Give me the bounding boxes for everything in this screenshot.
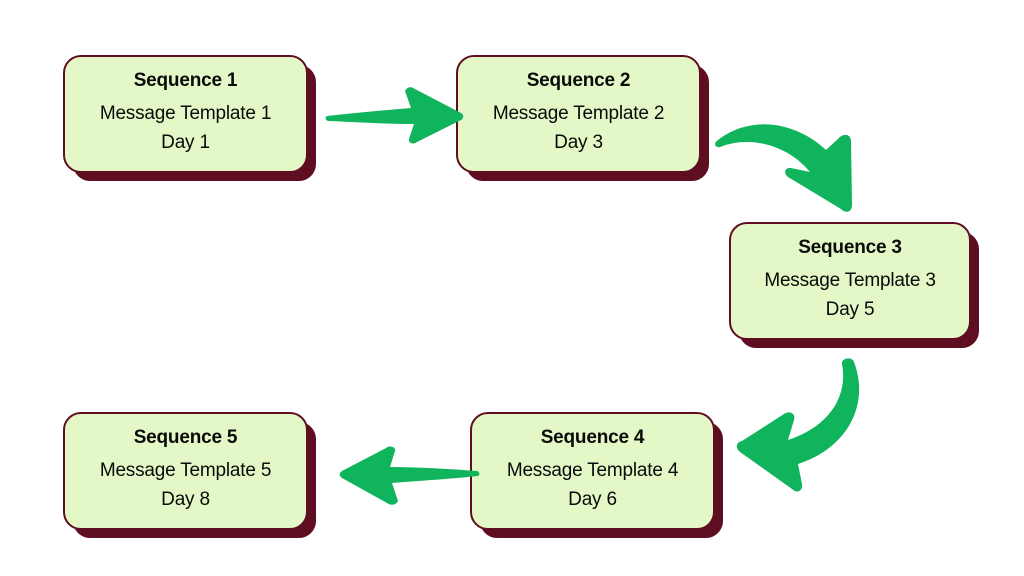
sequence-node-5[interactable]: Sequence 5 Message Template 5 Day 8 <box>63 412 308 530</box>
sequence-node-2-day: Day 3 <box>554 131 603 155</box>
sequence-node-2-template: Message Template 2 <box>493 102 664 126</box>
sequence-node-4[interactable]: Sequence 4 Message Template 4 Day 6 <box>470 412 715 530</box>
sequence-node-4-title: Sequence 4 <box>541 426 645 450</box>
arrow-left-icon-4-5 <box>318 438 480 510</box>
sequence-node-1-day: Day 1 <box>161 131 210 155</box>
sequence-node-3-template: Message Template 3 <box>764 269 935 293</box>
diagram-canvas: Sequence 1 Message Template 1 Day 1 Sequ… <box>0 0 1024 576</box>
arrow-curved-down-right-icon-2-3 <box>700 95 900 227</box>
sequence-node-4-template: Message Template 4 <box>507 459 678 483</box>
sequence-node-5-day: Day 8 <box>161 488 210 512</box>
sequence-node-1-template: Message Template 1 <box>100 102 271 126</box>
sequence-node-2-title: Sequence 2 <box>527 69 631 93</box>
arrow-curved-down-left-icon-3-4 <box>718 348 900 500</box>
sequence-node-5-title: Sequence 5 <box>134 426 238 450</box>
sequence-node-3[interactable]: Sequence 3 Message Template 3 Day 5 <box>729 222 971 340</box>
sequence-node-5-template: Message Template 5 <box>100 459 271 483</box>
arrow-right-icon-1-2 <box>325 84 465 146</box>
sequence-node-3-day: Day 5 <box>826 298 875 322</box>
sequence-node-1-title: Sequence 1 <box>134 69 238 93</box>
sequence-node-2[interactable]: Sequence 2 Message Template 2 Day 3 <box>456 55 701 173</box>
sequence-node-1[interactable]: Sequence 1 Message Template 1 Day 1 <box>63 55 308 173</box>
sequence-node-3-title: Sequence 3 <box>798 236 902 260</box>
sequence-node-4-day: Day 6 <box>568 488 617 512</box>
